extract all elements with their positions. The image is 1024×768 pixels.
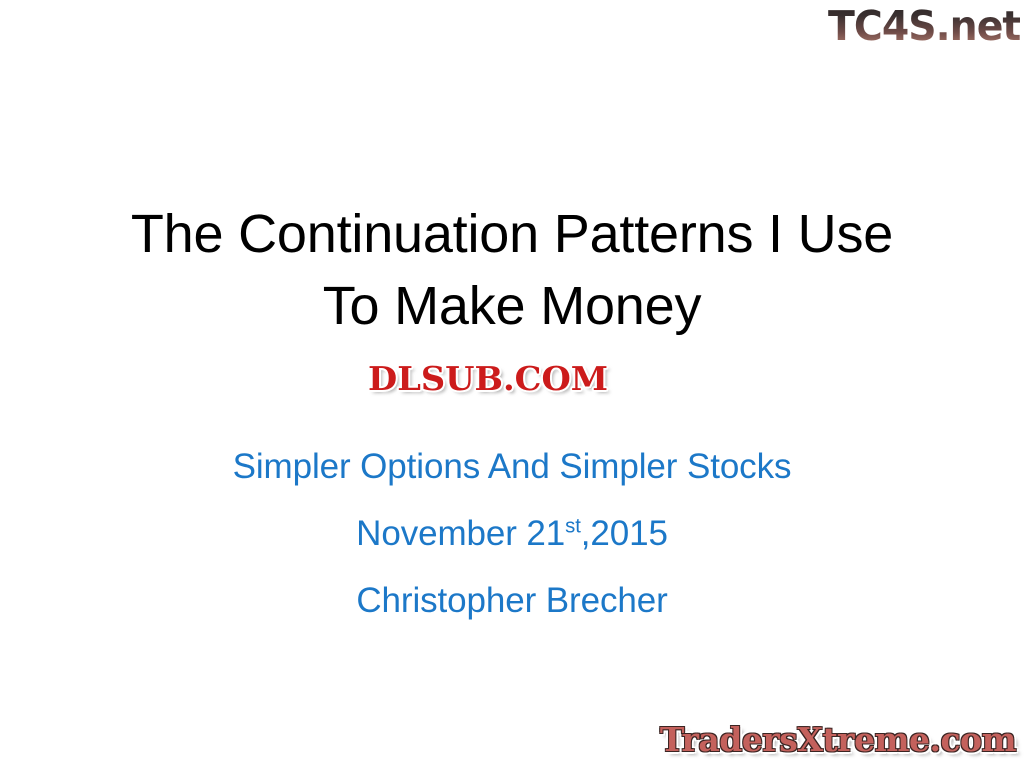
subtitle-date-prefix: November 21 bbox=[356, 514, 565, 553]
slide-title: The Continuation Patterns I Use To Make … bbox=[62, 198, 962, 342]
dlsub-com-watermark: DLSUB.COM bbox=[368, 357, 608, 401]
subtitle-date-suffix: ,2015 bbox=[581, 514, 668, 553]
title-line-2: To Make Money bbox=[62, 270, 962, 342]
subtitle-organization: Simpler Options And Simpler Stocks bbox=[62, 443, 962, 491]
slide-subtitle: Simpler Options And Simpler Stocks Novem… bbox=[62, 443, 962, 625]
tradersxtreme-com-watermark: TradersXtreme.com bbox=[660, 718, 1016, 762]
subtitle-date: November 21st,2015 bbox=[62, 510, 962, 558]
subtitle-date-ordinal: st bbox=[565, 515, 581, 537]
title-line-1: The Continuation Patterns I Use bbox=[62, 198, 962, 270]
subtitle-speaker-name: Christopher Brecher bbox=[62, 577, 962, 625]
tc4s-net-watermark: TC4S.net bbox=[828, 2, 1020, 50]
presentation-slide: TC4S.net The Continuation Patterns I Use… bbox=[0, 0, 1024, 768]
